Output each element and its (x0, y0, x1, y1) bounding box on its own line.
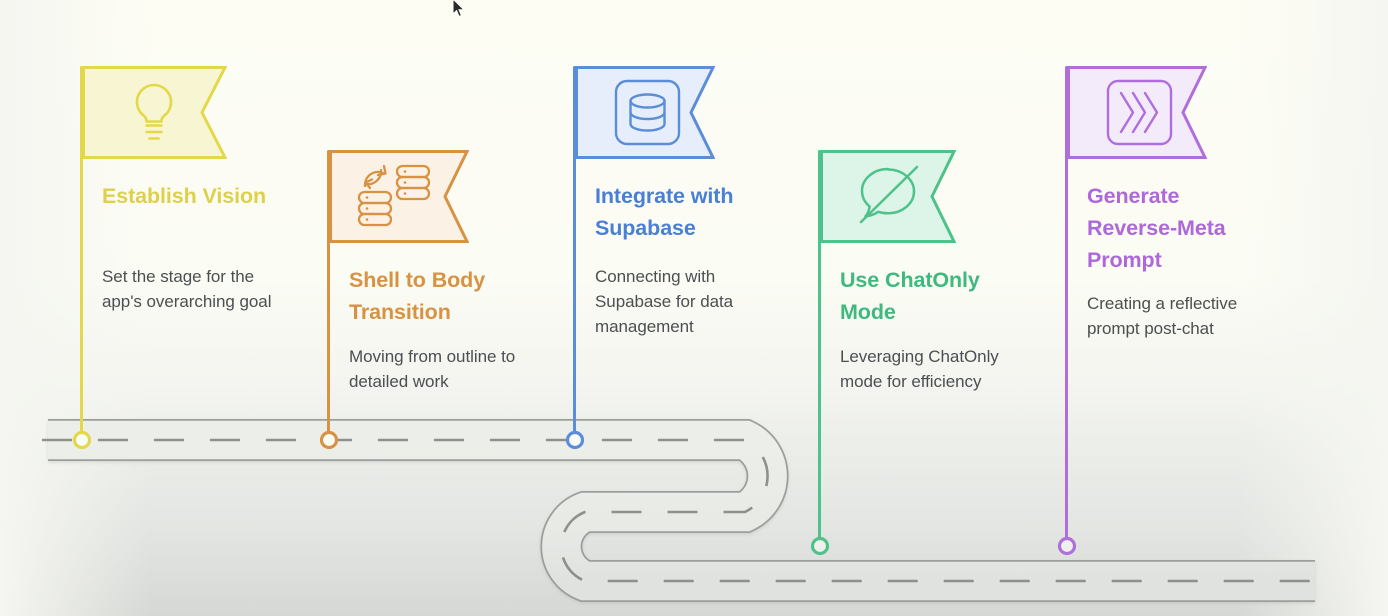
milestone-markers (0, 0, 1388, 616)
marker-reverse-meta (1060, 539, 1075, 554)
mouse-pointer-icon (452, 0, 466, 18)
marker-establish-vision (75, 433, 90, 448)
marker-integrate-supabase (568, 433, 583, 448)
marker-shell-to-body (322, 433, 337, 448)
roadmap-canvas: Establish Vision Set the stage for the a… (0, 0, 1388, 616)
marker-use-chatonly (813, 539, 828, 554)
